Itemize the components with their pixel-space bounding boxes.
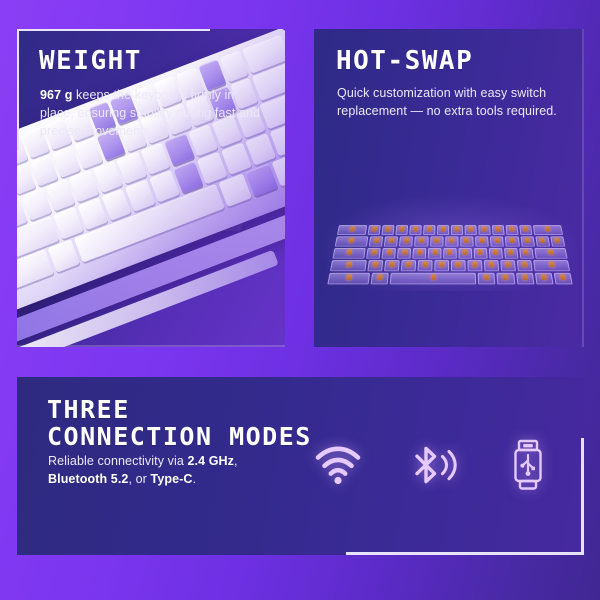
usb-icon — [498, 433, 558, 497]
panel-modes-heading-line1: THREE — [47, 395, 130, 424]
panel-modes-bottom-edge — [346, 552, 584, 555]
panel-weight-body: 967 g keeps the keyboard firmly in place… — [40, 87, 266, 140]
panel-weight: 967 — [17, 29, 285, 347]
switch-row — [332, 248, 567, 259]
switch-row — [335, 236, 565, 246]
switch-grid-photo — [328, 225, 572, 281]
connection-mode-icon-group — [308, 433, 558, 497]
panel-weight-top-edge — [17, 29, 210, 31]
panel-modes-heading: THREE CONNECTION MODES — [47, 397, 312, 450]
panel-modes-heading-line2: CONNECTION MODES — [47, 424, 312, 451]
panel-hotswap-body: Quick customization with easy switch rep… — [337, 85, 569, 121]
wifi-icon — [308, 433, 368, 497]
panel-hotswap-heading: HOT-SWAP — [336, 48, 473, 76]
panel-weight-heading: WEIGHT — [39, 48, 142, 76]
bluetooth-icon — [403, 433, 463, 497]
panel-hotswap-right-edge — [582, 29, 584, 347]
infographic-root: 967 — [0, 0, 600, 600]
keyboard-photo — [17, 29, 285, 347]
switch-row — [327, 273, 572, 285]
panel-hotswap: HOT-SWAP Quick customization with easy s… — [314, 29, 584, 347]
switch-row — [330, 260, 570, 271]
switch-row — [337, 225, 563, 235]
panel-connection-modes: THREE CONNECTION MODES Reliable connecti… — [17, 377, 584, 555]
panel-modes-right-edge — [581, 438, 584, 555]
panel-modes-body: Reliable connectivity via 2.4 GHz, Bluet… — [48, 453, 298, 489]
